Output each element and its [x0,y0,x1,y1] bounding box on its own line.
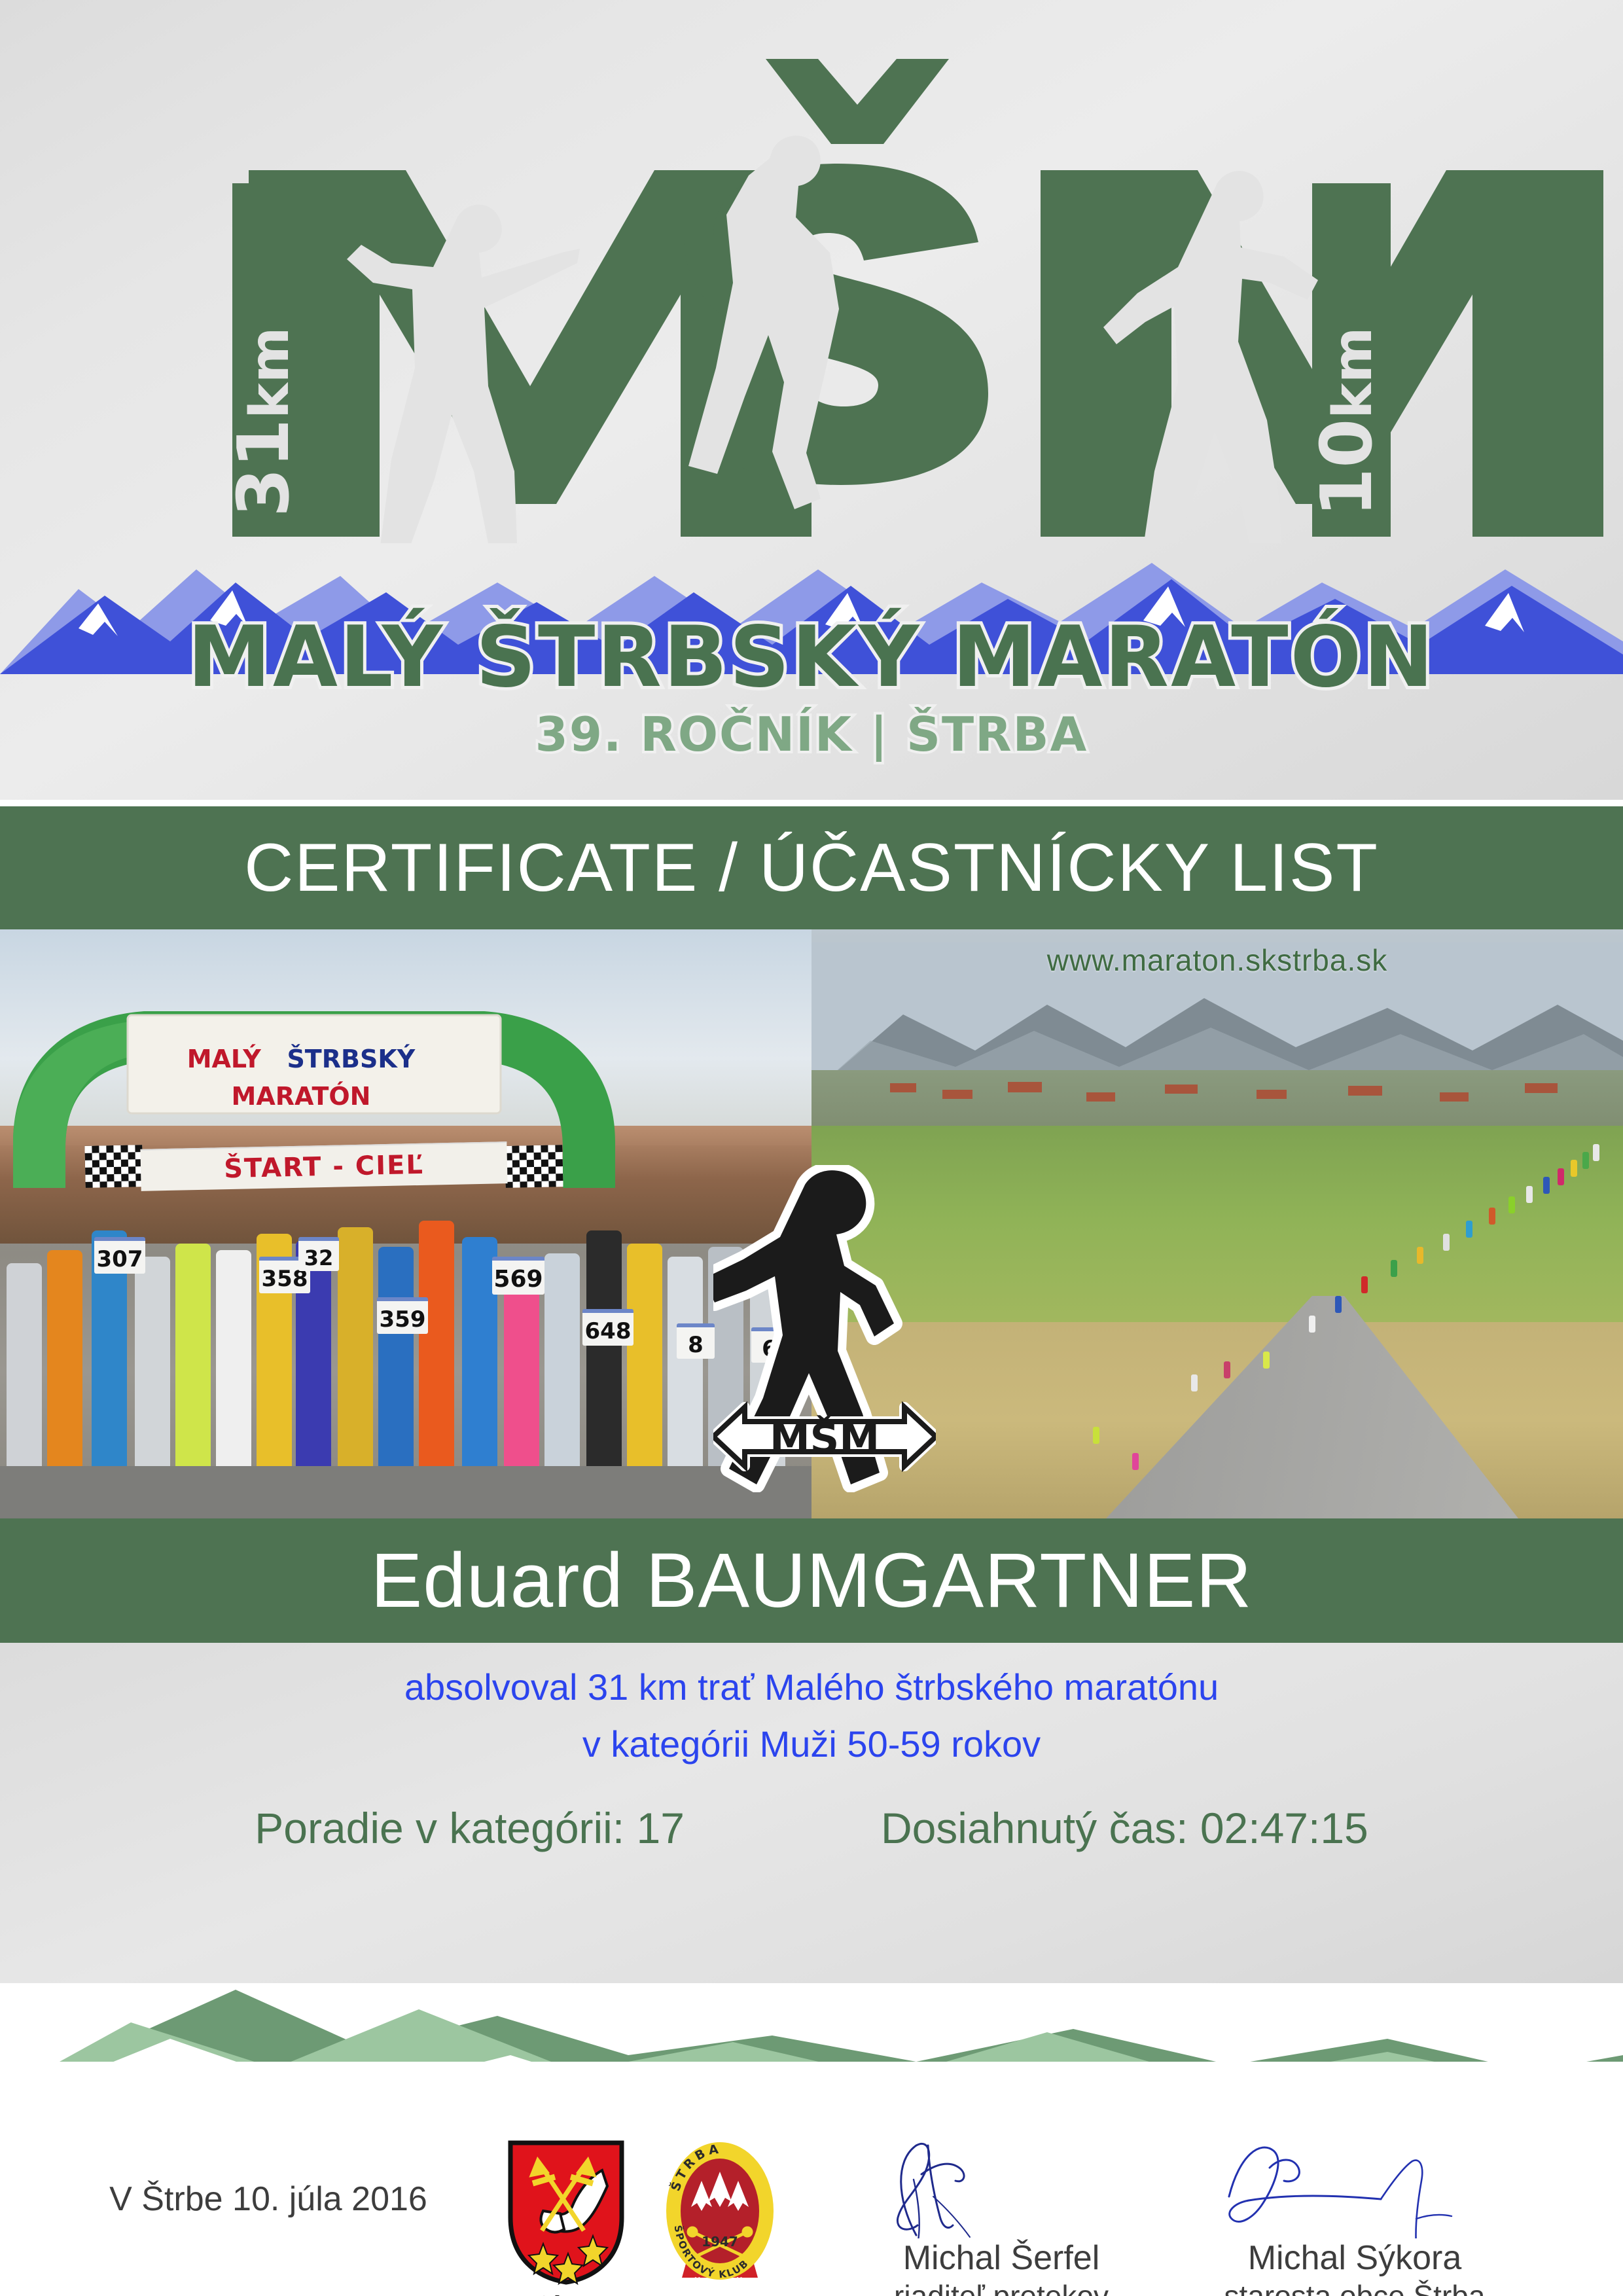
race-subtitle: 39. ROČNÍK | ŠTRBA [0,707,1623,762]
signatory-name: Michal Šerfel [818,2238,1185,2278]
msm-wordmark: 31km 10km [0,20,1623,543]
start-finish-banner: ŠTART - CIEĽ [140,1141,507,1191]
arch-banner-text: MALÝ ŠTRBSKÝ MARATÓN [134,1041,468,1115]
signature-block-mayor: Michal Sýkora starosta obce Štrba [1171,2140,1538,2296]
runner-bib: 307 [94,1237,145,1274]
issue-date: V Štrbe 10. júla 2016 [59,2179,478,2219]
runner [419,1221,454,1479]
signature-ink-serfel [818,2140,1185,2238]
runner [627,1244,662,1479]
description-line-1: absolvoval 31 km trať Malého štrbského m… [0,1659,1623,1716]
runner [135,1257,170,1479]
photo-strip: MALÝ ŠTRBSKÝ MARATÓN ŠTART - CIEĽ [0,929,1623,1518]
arch-word-maly: MALÝ [187,1045,261,1073]
race-title: MALÝ ŠTRBSKÝ MARATÓN [0,615,1623,701]
runner-bib: 648 [582,1309,633,1346]
arch-word-maraton: MARATÓN [232,1082,371,1111]
runner [668,1257,703,1479]
race-road [0,1466,811,1518]
runner [47,1250,82,1479]
certificate-page: 31km 10km [0,0,1623,2296]
obec-strba-crest: Obec Štrba [504,2139,628,2296]
website-url[interactable]: www.maraton.skstrba.sk [811,942,1623,978]
signature-ink-sykora [1171,2140,1538,2238]
runner-bib: 359 [377,1297,428,1334]
sks-strba-logo: 1947 ŠTRBA ŠPORTOVÝ KLUB Š K Š [654,2134,785,2296]
achievement-description: absolvoval 31 km trať Malého štrbského m… [0,1659,1623,1773]
runner [378,1247,414,1479]
runner [586,1230,622,1479]
runner [544,1253,580,1479]
runner-bib: 8 [677,1323,715,1359]
signatory-role: starosta obce Štrba [1171,2278,1538,2296]
crest-label: Obec Štrba [504,2292,628,2296]
runner [175,1244,211,1479]
checker-flag-right [505,1145,563,1188]
certificate-footer: V Štrbe 10. júla 2016 [0,2062,1623,2296]
description-line-2: v kategórii Muži 50-59 rokov [0,1716,1623,1773]
header-logo-area: 31km 10km [0,0,1623,800]
category-rank: Poradie v kategórii: 17 [255,1803,685,1853]
runner [7,1263,42,1479]
club-year: 1947 [702,2234,738,2250]
emblem-msm-text: MŠM [770,1415,880,1463]
club-bottom-text: Š K Š [692,2278,747,2295]
runner-bib: 32 [298,1237,339,1271]
signature-block-director: Michal Šerfel riaditeľ pretekov [818,2140,1185,2296]
certificate-title: CERTIFICATE / ÚČASTNÍCKY LIST [244,829,1379,907]
runner [216,1250,251,1479]
signatory-name: Michal Sýkora [1171,2238,1538,2278]
signatory-role: riaditeľ pretekov [818,2278,1185,2296]
msm-runner-emblem: MŠM [713,1165,936,1492]
runner [338,1227,373,1479]
results-row: Poradie v kategórii: 17 Dosiahnutý čas: … [0,1803,1623,1853]
participant-name-banner: Eduard BAUMGARTNER [0,1518,1623,1643]
certificate-banner: CERTIFICATE / ÚČASTNÍCKY LIST [0,806,1623,929]
finish-time: Dosiahnutý čas: 02:47:15 [881,1803,1368,1853]
checker-flag-left [84,1145,143,1188]
runner-bib: 569 [492,1257,544,1295]
photo-start-line: MALÝ ŠTRBSKÝ MARATÓN ŠTART - CIEĽ [0,929,811,1518]
arch-word-strbsky: ŠTRBSKÝ [287,1045,415,1073]
participant-name: Eduard BAUMGARTNER [371,1536,1253,1625]
